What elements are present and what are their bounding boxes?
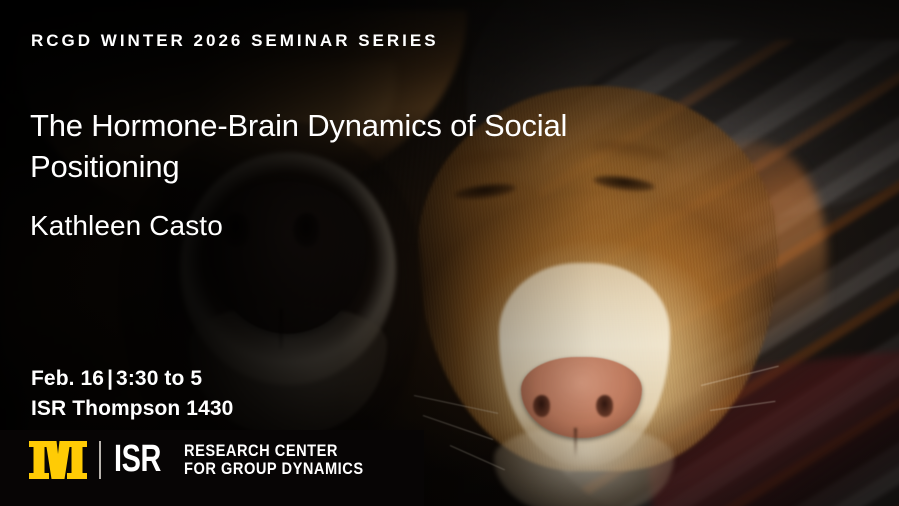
page-title: The Hormone-Brain Dynamics of Social Pos… <box>30 106 690 188</box>
event-time: 3:30 to 5 <box>116 367 202 390</box>
logo-divider <box>99 441 101 479</box>
poster-content: RCGD WINTER 2026 SEMINAR SERIES The Horm… <box>0 0 899 506</box>
speaker-name: Kathleen Casto <box>30 210 223 242</box>
rcgd-logo-lockup: ISR RESEARCH CENTER FOR GROUP DYNAMICS <box>28 437 393 483</box>
event-details: Feb. 16|3:30 to 5 ISR Thompson 1430 <box>31 364 233 425</box>
detail-separator: | <box>104 367 116 390</box>
event-datetime-line: Feb. 16|3:30 to 5 <box>31 364 233 394</box>
isr-wordmark: ISR <box>114 444 172 475</box>
center-name-line1: RESEARCH CENTER <box>184 442 364 460</box>
event-date: Feb. 16 <box>31 367 104 390</box>
block-m-icon <box>28 438 88 482</box>
event-location: ISR Thompson 1430 <box>31 394 233 424</box>
center-name-line2: FOR GROUP DYNAMICS <box>184 460 364 478</box>
seminar-poster: RCGD WINTER 2026 SEMINAR SERIES The Horm… <box>0 0 899 506</box>
series-eyebrow: RCGD WINTER 2026 SEMINAR SERIES <box>31 31 439 51</box>
center-name: RESEARCH CENTER FOR GROUP DYNAMICS <box>184 442 364 478</box>
